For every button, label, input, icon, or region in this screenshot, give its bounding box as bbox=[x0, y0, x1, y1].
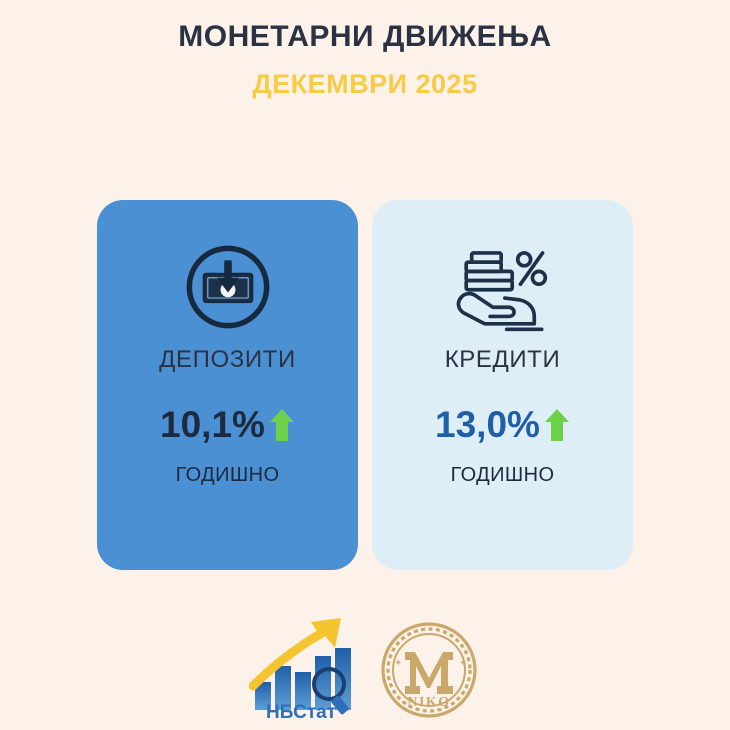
metric-period-deposits: ГОДИШНО bbox=[176, 465, 280, 485]
metric-card-credits: КРЕДИТИ 13,0% ГОДИШНО bbox=[372, 200, 633, 570]
metric-value-credits: 13,0% bbox=[435, 406, 540, 443]
arrow-up-icon bbox=[544, 408, 570, 442]
metric-cards-container: ДЕПОЗИТИ 10,1% ГОДИШНО bbox=[97, 200, 633, 570]
metric-label-credits: КРЕДИТИ bbox=[445, 348, 561, 372]
seal-mark-left: ✦ bbox=[394, 658, 402, 669]
seal-logo: NIKO ✦ ✦ bbox=[377, 618, 481, 722]
infographic-page: МОНЕТАРНИ ДВИЖЕЊА ДЕКЕМВРИ 2025 ДЕПОЗИТИ bbox=[0, 0, 730, 730]
page-title: МОНЕТАРНИ ДВИЖЕЊА bbox=[0, 20, 730, 55]
header: МОНЕТАРНИ ДВИЖЕЊА ДЕКЕМВРИ 2025 bbox=[0, 0, 730, 100]
page-subtitle: ДЕКЕМВРИ 2025 bbox=[0, 69, 730, 100]
footer-logos: НБСтат NIKO ✦ ✦ bbox=[0, 614, 730, 722]
seal-mark-right: ✦ bbox=[459, 658, 467, 669]
seal-logo-text: NIKO bbox=[407, 695, 450, 710]
hand-coins-percent-icon bbox=[451, 238, 555, 336]
metric-value-deposits: 10,1% bbox=[160, 406, 265, 443]
metric-card-deposits: ДЕПОЗИТИ 10,1% ГОДИШНО bbox=[97, 200, 358, 570]
metric-value-row-credits: 13,0% bbox=[435, 406, 570, 443]
metric-period-credits: ГОДИШНО bbox=[451, 465, 555, 485]
metric-value-row-deposits: 10,1% bbox=[160, 406, 295, 443]
metric-label-deposits: ДЕПОЗИТИ bbox=[159, 348, 296, 372]
nbstat-logo: НБСтат bbox=[249, 614, 361, 722]
nbstat-logo-text: НБСтат bbox=[266, 702, 336, 722]
deposit-banknote-icon bbox=[182, 238, 274, 336]
arrow-up-icon bbox=[269, 408, 295, 442]
